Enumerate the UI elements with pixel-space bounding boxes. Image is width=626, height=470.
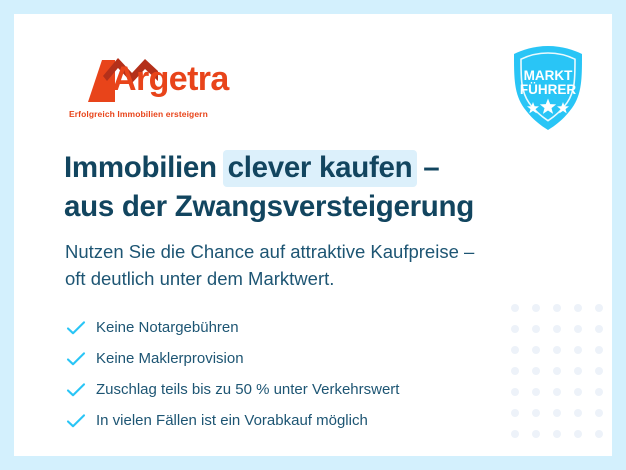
list-item-label: Keine Maklerprovision bbox=[96, 350, 244, 367]
dot bbox=[553, 367, 561, 375]
headline-line2: aus der Zwangsversteigerung bbox=[64, 190, 474, 223]
dot bbox=[553, 346, 561, 354]
list-item-label: In vielen Fällen ist ein Vorabkauf mögli… bbox=[96, 412, 368, 429]
dot bbox=[511, 304, 519, 312]
dot bbox=[553, 409, 561, 417]
dot bbox=[595, 304, 603, 312]
market-leader-badge: MARKT FÜHRER bbox=[502, 42, 594, 134]
list-item: Zuschlag teils bis zu 50 % unter Verkehr… bbox=[66, 374, 536, 405]
headline-highlight: clever kaufen bbox=[223, 150, 418, 187]
list-item: Keine Maklerprovision bbox=[66, 343, 536, 374]
dot bbox=[595, 388, 603, 396]
poster-card: Argetra Erfolgreich Immobilien ersteiger… bbox=[14, 14, 612, 456]
poster-frame: Argetra Erfolgreich Immobilien ersteiger… bbox=[0, 0, 626, 470]
list-item-label: Zuschlag teils bis zu 50 % unter Verkehr… bbox=[96, 381, 399, 398]
dot bbox=[532, 304, 540, 312]
dot bbox=[574, 388, 582, 396]
list-item: Keine Notargebühren bbox=[66, 312, 536, 343]
benefits-list: Keine Notargebühren Keine Maklerprovisio… bbox=[66, 312, 536, 436]
argetra-logo: Argetra Erfolgreich Immobilien ersteiger… bbox=[66, 54, 256, 124]
logo-wordmark: Argetra bbox=[112, 62, 229, 96]
badge-line1: MARKT bbox=[524, 68, 573, 83]
dot bbox=[595, 430, 603, 438]
dot bbox=[553, 388, 561, 396]
dot bbox=[553, 304, 561, 312]
dot bbox=[553, 325, 561, 333]
dot bbox=[574, 409, 582, 417]
headline-part1: Immobilien bbox=[64, 151, 225, 184]
dot bbox=[595, 346, 603, 354]
subtitle-line2: oft deutlich unter dem Marktwert. bbox=[65, 268, 334, 289]
dot bbox=[574, 430, 582, 438]
badge-line2: FÜHRER bbox=[520, 82, 576, 97]
check-icon bbox=[66, 319, 96, 337]
logo-tagline: Erfolgreich Immobilien ersteigern bbox=[69, 109, 208, 119]
dot bbox=[574, 325, 582, 333]
dot bbox=[574, 367, 582, 375]
check-icon bbox=[66, 412, 96, 430]
dot bbox=[553, 430, 561, 438]
dot bbox=[574, 304, 582, 312]
page-title: Immobilien clever kaufen – aus der Zwang… bbox=[64, 148, 564, 226]
shield-badge-icon: MARKT FÜHRER bbox=[502, 42, 594, 134]
dot bbox=[595, 409, 603, 417]
check-icon bbox=[66, 381, 96, 399]
page-subtitle: Nutzen Sie die Chance auf attraktive Kau… bbox=[65, 238, 565, 293]
dot bbox=[574, 346, 582, 354]
list-item: In vielen Fällen ist ein Vorabkauf mögli… bbox=[66, 405, 536, 436]
headline-part2: – bbox=[415, 151, 439, 184]
list-item-label: Keine Notargebühren bbox=[96, 319, 239, 336]
subtitle-line1: Nutzen Sie die Chance auf attraktive Kau… bbox=[65, 241, 474, 262]
check-icon bbox=[66, 350, 96, 368]
dot bbox=[595, 367, 603, 375]
dot bbox=[595, 325, 603, 333]
